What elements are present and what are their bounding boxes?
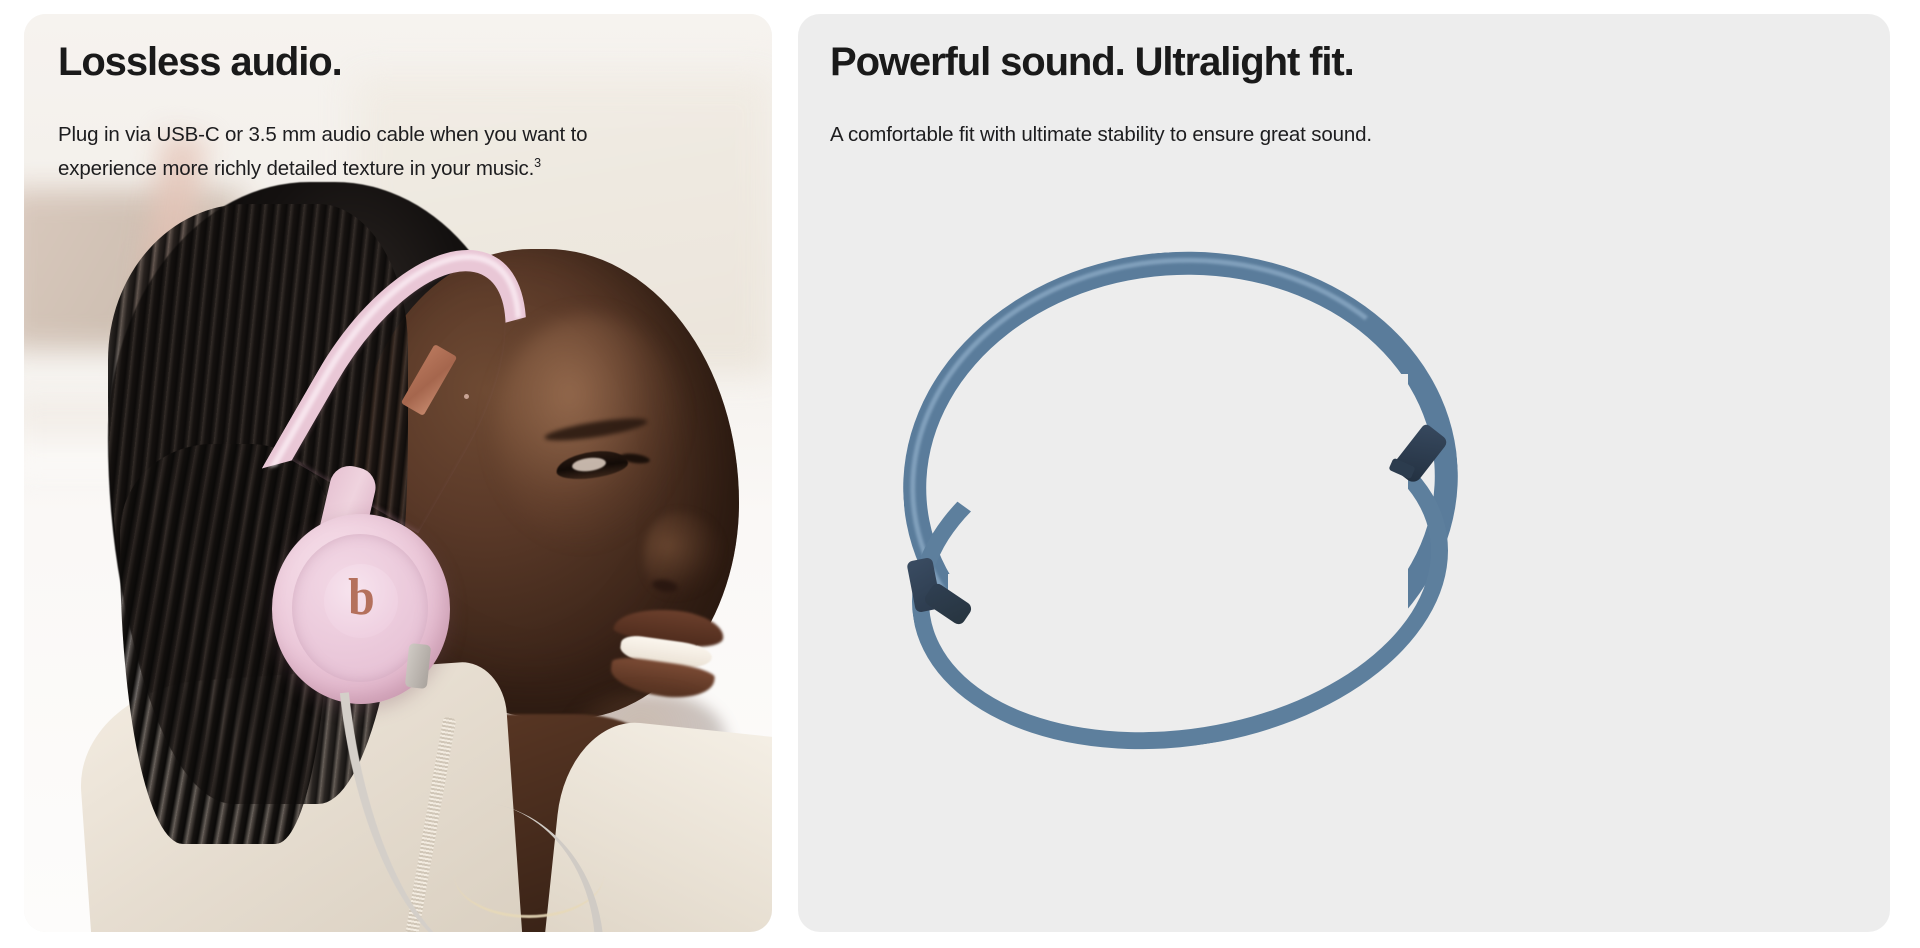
beats-logo-icon: b [324, 564, 398, 638]
beats-logo-letter: b [348, 572, 375, 624]
feature-card-lossless-audio: b Lossless audio. Plug in via USB-C or 3… [24, 14, 772, 932]
feature-card-powerful-sound: Powerful sound. Ultralight fit. A comfor… [798, 14, 1890, 932]
page-title-powerful-sound: Powerful sound. Ultralight fit. [830, 40, 1860, 84]
audio-cable-plug [405, 643, 431, 689]
lossless-audio-copy: Lossless audio. Plug in via USB-C or 3.5… [58, 40, 742, 187]
powerful-sound-description: A comfortable fit with ultimate stabilit… [830, 118, 1830, 152]
page-title-lossless-audio: Lossless audio. [58, 40, 742, 84]
powerful-sound-copy: Powerful sound. Ultralight fit. A comfor… [830, 40, 1860, 152]
lossless-audio-body-text: Plug in via USB-C or 3.5 mm audio cable … [58, 123, 587, 180]
headphone-slider-dot [464, 394, 469, 399]
earcup-top [1022, 388, 1304, 518]
footnote-marker-3: 3 [534, 157, 541, 171]
page-root: b Lossless audio. Plug in via USB-C or 3… [0, 0, 1920, 948]
lossless-audio-description: Plug in via USB-C or 3.5 mm audio cable … [58, 118, 683, 187]
